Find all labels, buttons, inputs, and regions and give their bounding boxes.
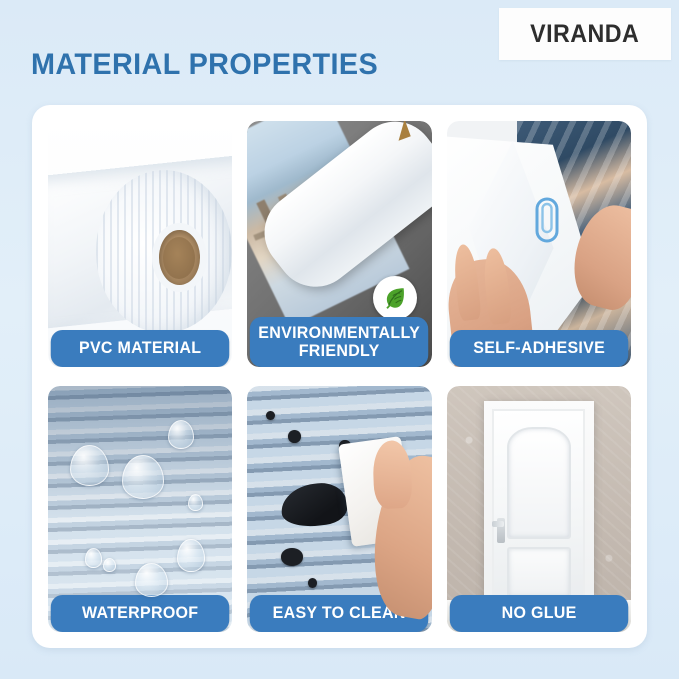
- water-drop: [122, 455, 165, 499]
- roll-tip-shape: [392, 121, 410, 141]
- features-grid: PVC MATERIAL: [48, 121, 631, 632]
- water-drop: [188, 494, 203, 511]
- feature-label-text: NO GLUE: [501, 605, 576, 622]
- door-panel-bottom: [507, 547, 571, 598]
- feature-label-text: PVC MATERIAL: [79, 340, 201, 357]
- feature-tile-self-adhesive[interactable]: SELF-ADHESIVE: [447, 121, 631, 367]
- feature-label-text: WATERPROOF: [82, 605, 198, 622]
- stain-spot: [308, 578, 317, 588]
- paperclip-icon: [533, 195, 561, 245]
- stain-spot: [281, 548, 303, 565]
- feature-label-text: ENVIRONMENTALLY FRIENDLY: [259, 324, 421, 360]
- eco-badge: [373, 276, 417, 320]
- feature-tile-waterproof[interactable]: WATERPROOF: [48, 386, 232, 632]
- brand-logo-box: VIRANDA: [499, 8, 671, 60]
- stain-smear: [278, 481, 349, 531]
- feature-tile-pvc-material[interactable]: PVC MATERIAL: [48, 121, 232, 367]
- page-title: MATERIAL PROPERTIES: [31, 48, 378, 82]
- feature-label-waterproof: WATERPROOF: [51, 595, 230, 632]
- water-drop: [70, 445, 109, 486]
- water-drop: [85, 548, 102, 567]
- feature-label-self-adhesive: SELF-ADHESIVE: [449, 330, 628, 367]
- roll-core-shape: [159, 230, 200, 285]
- feature-label-text: EASY TO CLEAN: [273, 605, 406, 622]
- stain-spot: [266, 411, 275, 421]
- door-panel-top: [507, 427, 571, 540]
- water-drop: [168, 420, 194, 449]
- door-handle-shape: [497, 518, 505, 543]
- infographic-page: VIRANDA MATERIAL PROPERTIES PVC MATERIAL: [0, 0, 679, 679]
- paperclip-icon-wrap: [533, 195, 561, 250]
- feature-label-pvc-material: PVC MATERIAL: [51, 330, 230, 367]
- brand-name: VIRANDA: [530, 20, 639, 49]
- door-shape: [492, 409, 585, 607]
- stain-spot: [288, 430, 301, 442]
- water-drop: [103, 558, 116, 572]
- feature-label-no-glue: NO GLUE: [449, 595, 628, 632]
- features-card: PVC MATERIAL: [32, 105, 647, 648]
- feature-tile-no-glue[interactable]: NO GLUE: [447, 386, 631, 632]
- water-drop: [135, 563, 168, 597]
- door-frame-shape: [484, 401, 595, 608]
- feature-tile-environmentally-friendly[interactable]: ENVIRONMENTALLY FRIENDLY: [247, 121, 431, 367]
- water-drop: [177, 539, 205, 573]
- roll-body-shape: [96, 170, 232, 332]
- feature-label-environmentally-friendly: ENVIRONMENTALLY FRIENDLY: [250, 317, 429, 367]
- leaf-icon: [382, 285, 408, 311]
- feature-label-line-2: FRIENDLY: [299, 342, 380, 360]
- feature-label-text: SELF-ADHESIVE: [473, 340, 605, 357]
- feature-label-line-1: ENVIRONMENTALLY: [259, 324, 421, 342]
- feature-tile-easy-to-clean[interactable]: EASY TO CLEAN: [247, 386, 431, 632]
